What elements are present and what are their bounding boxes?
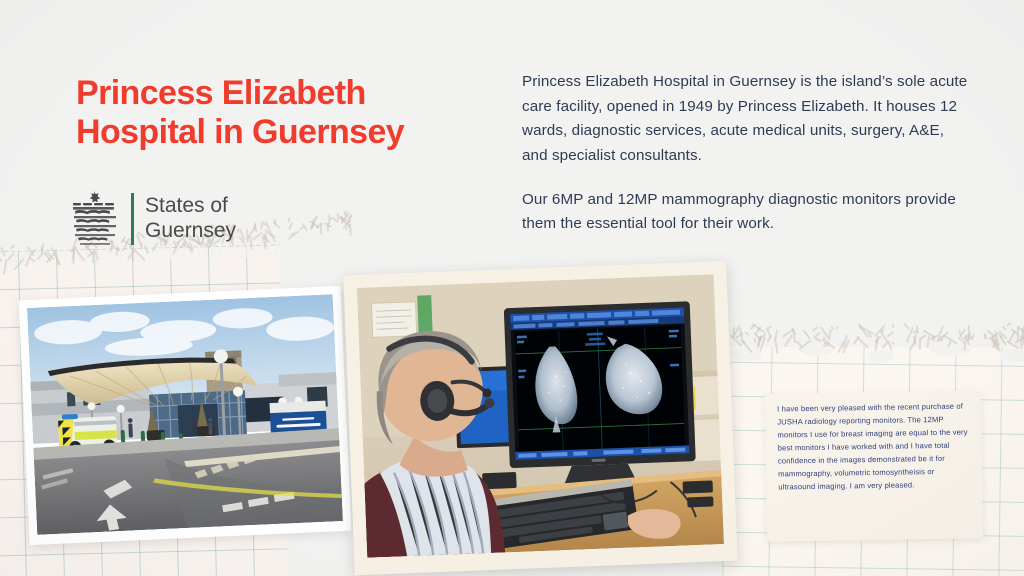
page-title: Princess Elizabeth Hospital in Guernsey [76,74,496,152]
photo-hospital-exterior-image [27,294,343,535]
states-of-guernsey-logo: States of Guernsey [70,190,236,248]
photo-hospital-exterior [19,286,352,545]
testimonial-text: I have been very pleased with the recent… [777,399,971,493]
body-paragraph-2: Our 6MP and 12MP mammography diagnostic … [522,188,970,237]
testimonial-card: I have been very pleased with the recent… [765,390,983,541]
logo-wordmark-line-2: Guernsey [145,219,236,244]
guernsey-crest-icon [70,190,120,248]
page-title-line-1: Princess Elizabeth [76,74,366,112]
logo-wordmark-line-1: States of [145,194,236,219]
photo-radiologist-workstation [343,261,737,575]
page-title-line-2: Hospital in Guernsey [76,113,404,151]
photo-radiologist-workstation-image [357,274,724,558]
body-copy: Princess Elizabeth Hospital in Guernsey … [522,70,970,237]
torn-paper-edge-right [714,322,1024,368]
logo-divider [131,193,134,245]
body-paragraph-1: Princess Elizabeth Hospital in Guernsey … [522,70,970,169]
logo-wordmark: States of Guernsey [145,194,236,244]
